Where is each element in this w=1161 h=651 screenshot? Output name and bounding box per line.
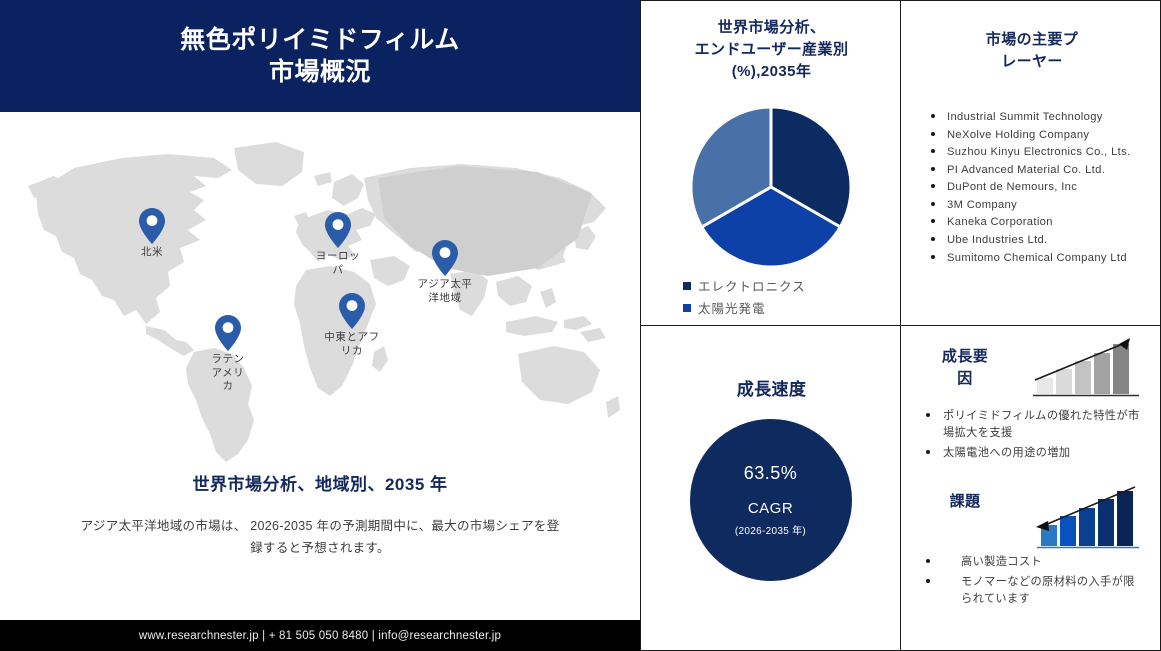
location-pin-icon	[139, 208, 165, 244]
map-pin-label: 北米	[115, 246, 189, 260]
panel-end-user-pie: 世界市場分析、 エンドユーザー産業別 (%),2035年 エレクトロ	[640, 0, 901, 326]
pie-legend-item: 太陽光発電	[683, 298, 893, 317]
cagr-years: (2026-2035 年)	[735, 522, 806, 537]
pie-chart	[689, 105, 853, 269]
map-section: 北米 ヨーロッパ アジア太平洋地域	[0, 112, 640, 618]
pie-panel-title: 世界市場分析、 エンドユーザー産業別 (%),2035年	[651, 17, 892, 82]
panel-key-players: 市場の主要プ レーヤー Industrial Summit Technology…	[900, 0, 1161, 326]
location-pin-icon	[339, 293, 365, 329]
panel-growth-rate: 成長速度 63.5% CAGR (2026-2035 年)	[640, 325, 901, 651]
bar-chart-descending-icon	[1031, 483, 1143, 551]
map-pin-label: ラテンアメリカ	[208, 353, 248, 394]
region-analysis-title: 世界市場分析、地域別、2035 年	[0, 470, 640, 495]
left-column: 無色ポリイミドフィルム 市場概況	[0, 0, 640, 651]
footer-bar: www.researchnester.jp | + 81 505 050 848…	[0, 620, 640, 651]
pie-title-line2: エンドユーザー産業別	[651, 39, 892, 61]
page-title-line2: 市場概況	[180, 56, 460, 88]
page-title: 無色ポリイミドフィルム 市場概況	[180, 24, 460, 88]
players-title-line1: 市場の主要プ	[937, 29, 1127, 51]
legend-swatch-icon	[683, 282, 691, 290]
legend-label: エレクトロニクス	[698, 276, 806, 295]
drivers-title: 成長要 因	[921, 346, 1009, 390]
list-item: DuPont de Nemours, Inc	[923, 179, 1155, 196]
challenges-list: 高い製造コストモノマーなどの原材料の入手が限られています	[917, 554, 1145, 610]
list-item: 太陽電池への用途の増加	[917, 445, 1145, 462]
region-analysis-description: アジア太平洋地域の市場は、 2026-2035 年の予測期間中に、最大の市場シェ…	[80, 516, 560, 560]
cagr-percent: 63.5%	[744, 463, 798, 484]
location-pin-icon	[432, 240, 458, 276]
header-banner: 無色ポリイミドフィルム 市場概況	[0, 0, 640, 112]
list-item: Ube Industries Ltd.	[923, 232, 1155, 249]
map-pin-label: アジア太平洋地域	[412, 278, 478, 305]
list-item: PI Advanced Material Co. Ltd.	[923, 162, 1155, 179]
list-item: Kaneka Corporation	[923, 214, 1155, 231]
challenges-bar-chart-down-icon	[1031, 483, 1143, 551]
world-map: 北米 ヨーロッパ アジア太平洋地域	[18, 134, 622, 464]
cagr-panel-title: 成長速度	[651, 378, 892, 403]
legend-label: 太陽光発電	[698, 298, 766, 317]
list-item: Industrial Summit Technology	[923, 109, 1155, 126]
map-pin-label: 中東とアフリカ	[321, 331, 383, 358]
page-title-line1: 無色ポリイミドフィルム	[180, 26, 460, 54]
list-item: NeXolve Holding Company	[923, 127, 1155, 144]
cagr-label: CAGR	[748, 500, 793, 517]
map-pin-label: ヨーロッパ	[311, 250, 365, 277]
list-item: ポリイミドフィルムの優れた特性が市場拡大を支援	[917, 408, 1145, 442]
pie-legend: エレクトロニクス 太陽光発電	[683, 276, 893, 320]
right-panel-grid: 世界市場分析、 エンドユーザー産業別 (%),2035年 エレクトロ	[640, 0, 1161, 651]
pie-title-line3: (%),2035年	[651, 61, 892, 83]
legend-swatch-icon	[683, 304, 691, 312]
drivers-title-line2: 因	[921, 368, 1009, 390]
panel-drivers-challenges: 成長要 因 ポリイミドフィルムの優れた特性が市場拡大を支援太陽電池への用途の増加…	[900, 325, 1161, 651]
location-pin-icon	[215, 315, 241, 351]
world-map-svg	[18, 134, 622, 464]
pie-title-line1: 世界市場分析、	[651, 17, 892, 39]
list-item: 3M Company	[923, 197, 1155, 214]
key-players-list: Industrial Summit TechnologyNeXolve Hold…	[923, 109, 1155, 267]
list-item: Suzhou Kinyu Electronics Co., Lts.	[923, 144, 1155, 161]
pie-legend-item: エレクトロニクス	[683, 276, 893, 295]
infographic-page: 無色ポリイミドフィルム 市場概況	[0, 0, 1161, 651]
drivers-title-line1: 成長要	[921, 346, 1009, 368]
players-title-line2: レーヤー	[937, 51, 1127, 73]
footer-contact-text: www.researchnester.jp | + 81 505 050 848…	[139, 630, 501, 642]
list-item: Sumitomo Chemical Company Ltd	[923, 250, 1155, 267]
location-pin-icon	[325, 212, 351, 248]
cagr-circle: 63.5% CAGR (2026-2035 年)	[690, 419, 852, 581]
bar-chart-ascending-icon	[1031, 336, 1143, 398]
challenges-title: 課題	[921, 491, 1009, 513]
list-item: モノマーなどの原材料の入手が限られています	[917, 574, 1145, 608]
growth-bar-chart-up-icon	[1031, 336, 1143, 398]
growth-drivers-list: ポリイミドフィルムの優れた特性が市場拡大を支援太陽電池への用途の増加	[917, 408, 1145, 464]
players-panel-title: 市場の主要プ レーヤー	[937, 29, 1127, 73]
list-item: 高い製造コスト	[917, 554, 1145, 571]
pie-chart-svg	[689, 105, 853, 269]
